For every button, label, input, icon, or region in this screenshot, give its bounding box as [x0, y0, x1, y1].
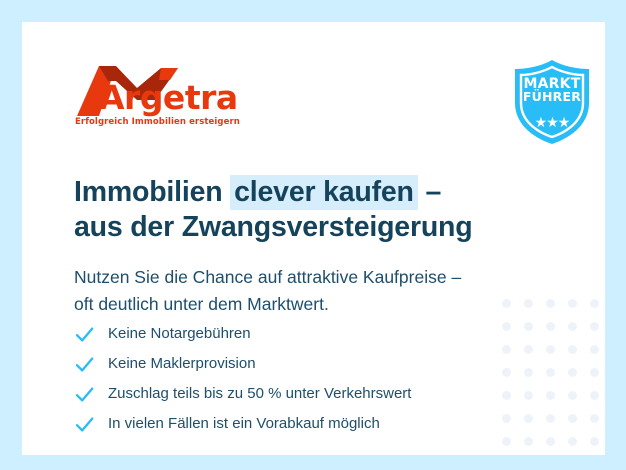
list-item: In vielen Fällen ist ein Vorabkauf mögli… — [74, 409, 534, 439]
check-icon — [74, 414, 95, 435]
headline-line1-before: Immobilien — [74, 176, 230, 208]
headline-line1-after: – — [418, 176, 441, 208]
decorative-dot — [568, 299, 577, 308]
list-item: Zuschlag teils bis zu 50 % unter Verkehr… — [74, 379, 534, 409]
argetra-logo[interactable]: Argetra Erfolgreich Immobilien ersteiger… — [75, 64, 275, 136]
list-item: Keine Maklerprovision — [74, 349, 534, 379]
decorative-dot — [546, 322, 555, 331]
decorative-dot — [568, 391, 577, 400]
decorative-dot — [590, 368, 599, 377]
decorative-dot — [590, 345, 599, 354]
decorative-dot — [568, 345, 577, 354]
decorative-dot — [568, 322, 577, 331]
subheadline-line1: Nutzen Sie die Chance auf attraktive Kau… — [74, 267, 461, 287]
decorative-dot — [568, 368, 577, 377]
benefits-list: Keine NotargebührenKeine Maklerprovision… — [74, 319, 534, 439]
decorative-dot — [546, 391, 555, 400]
list-item-label: In vielen Fällen ist ein Vorabkauf mögli… — [108, 415, 380, 433]
logo-wordmark: Argetra — [99, 81, 238, 114]
list-item-label: Zuschlag teils bis zu 50 % unter Verkehr… — [108, 385, 411, 403]
decorative-dot — [546, 368, 555, 377]
decorative-dot — [546, 437, 555, 446]
decorative-dot — [568, 414, 577, 423]
decorative-dot — [568, 437, 577, 446]
check-icon — [74, 354, 95, 375]
market-leader-badge: MARKT FÜHRER ★★★ — [510, 58, 594, 146]
decorative-dot — [546, 345, 555, 354]
headline-highlight: clever kaufen — [230, 175, 418, 210]
list-item: Keine Notargebühren — [74, 319, 534, 349]
decorative-dot — [590, 322, 599, 331]
decorative-dot — [590, 437, 599, 446]
list-item-label: Keine Notargebühren — [108, 325, 251, 343]
decorative-dot — [546, 414, 555, 423]
list-item-label: Keine Maklerprovision — [108, 355, 256, 373]
decorative-dot — [590, 391, 599, 400]
promo-banner: Argetra Erfolgreich Immobilien ersteiger… — [0, 0, 626, 470]
content-card: Argetra Erfolgreich Immobilien ersteiger… — [22, 22, 605, 455]
decorative-dot — [590, 414, 599, 423]
subheadline: Nutzen Sie die Chance auf attraktive Kau… — [74, 264, 554, 318]
logo-tagline: Erfolgreich Immobilien ersteigern — [75, 117, 240, 127]
check-icon — [74, 324, 95, 345]
subheadline-line2: oft deutlich unter dem Marktwert. — [74, 294, 329, 314]
headline-line2: aus der Zwangsversteigerung — [74, 211, 472, 243]
check-icon — [74, 384, 95, 405]
shield-icon — [510, 58, 594, 146]
headline: Immobilien clever kaufen – aus der Zwang… — [74, 175, 544, 245]
decorative-dot — [590, 299, 599, 308]
